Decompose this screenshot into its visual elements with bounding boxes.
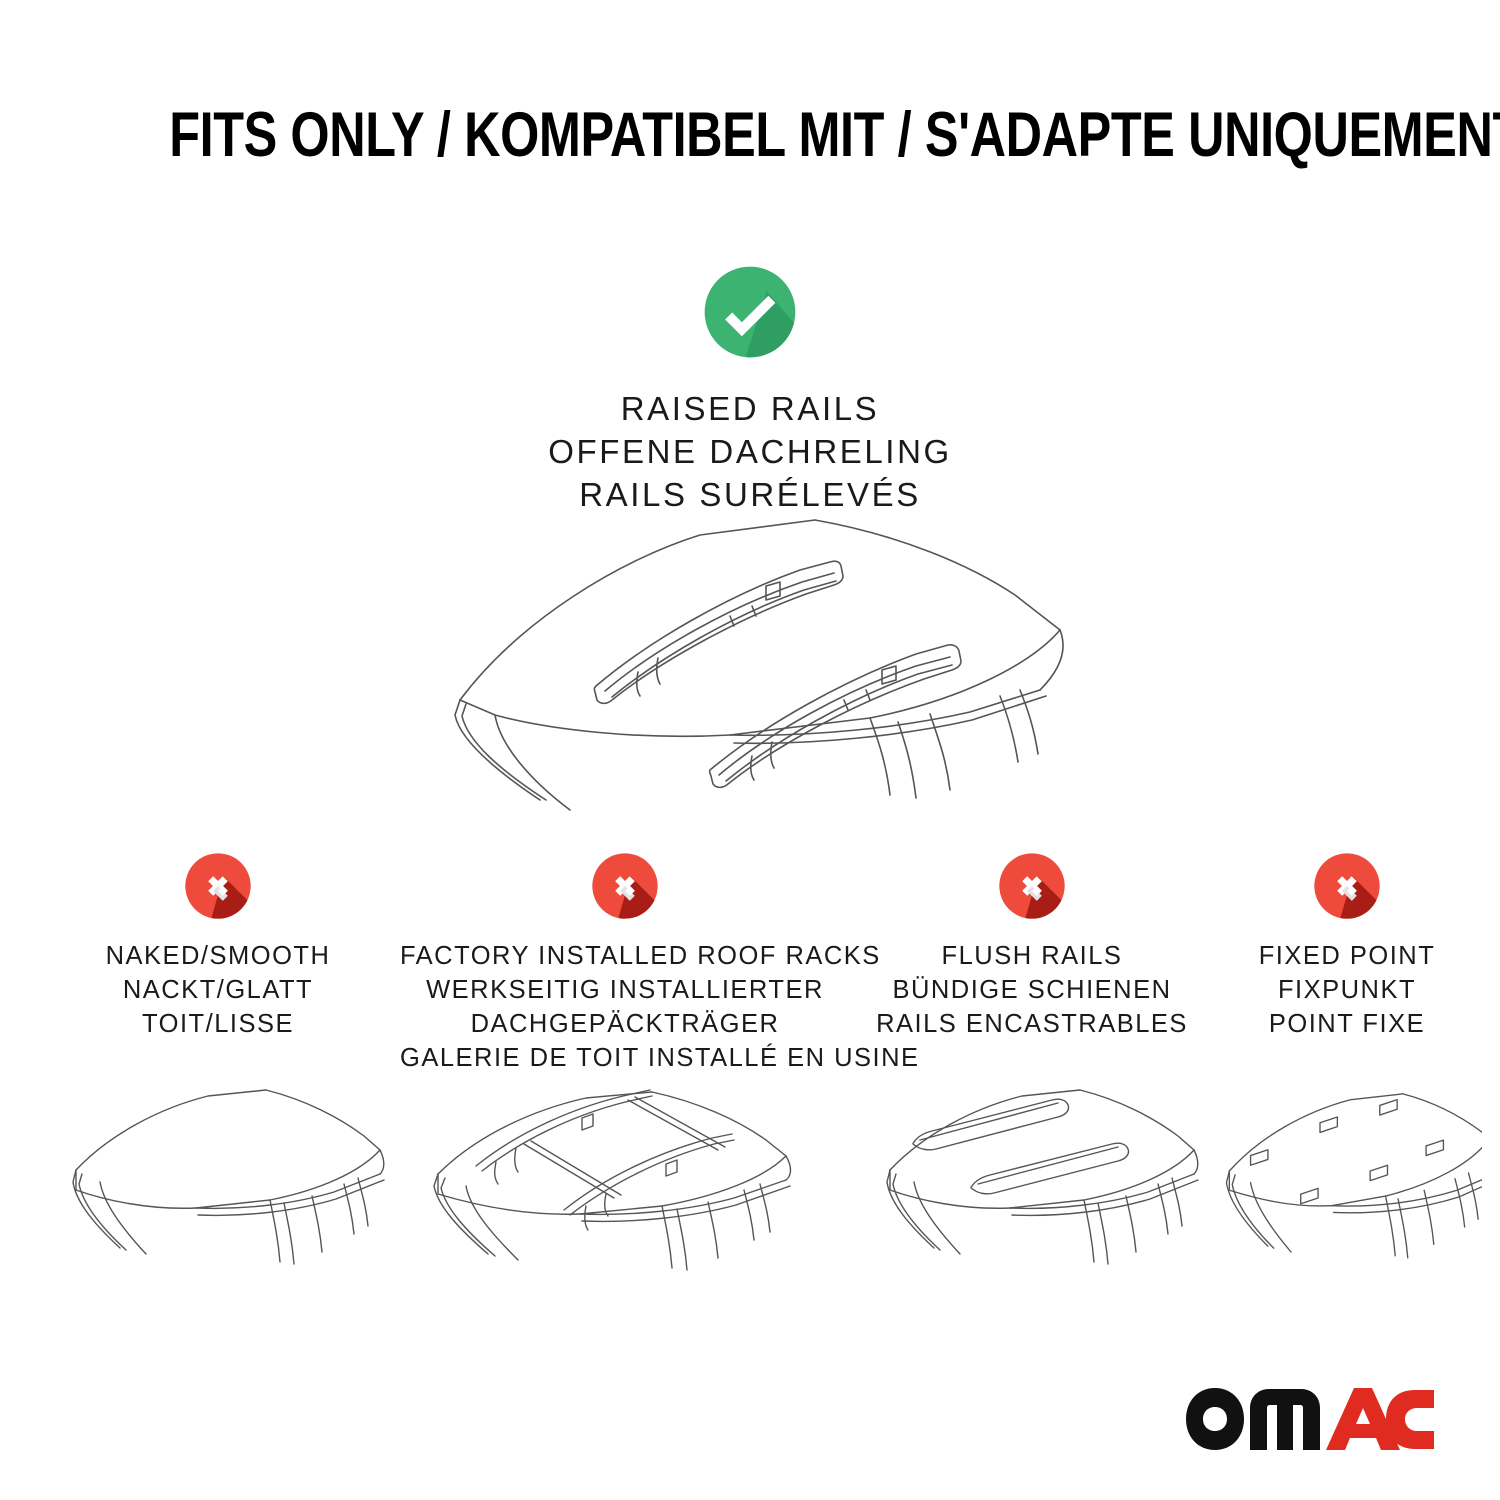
incompatible-item-factory-racks: FACTORY INSTALLED ROOF RACKS WERKSEITIG …	[400, 848, 850, 1323]
cross-circle-icon	[1309, 848, 1385, 924]
incompatible-3-line-1: FIXED POINT	[1212, 940, 1482, 974]
incompatible-item-flush-rails: FLUSH RAILS BÜNDIGE SCHIENEN RAILS ENCAS…	[862, 848, 1202, 1323]
omac-logo	[1184, 1386, 1436, 1452]
car-roof-flush-rails-illustration	[862, 1078, 1202, 1318]
page-title-text: FITS ONLY / KOMPATIBEL MIT / S'ADAPTE UN…	[169, 104, 1500, 167]
cross-circle-icon	[587, 848, 663, 924]
car-roof-factory-roof-racks-illustration	[400, 1078, 850, 1318]
cross-circle-icon	[180, 848, 256, 924]
incompatible-2-line-2: BÜNDIGE SCHIENEN	[862, 974, 1202, 1008]
incompatible-0-line-2: NACKT/GLATT	[48, 974, 388, 1008]
incompatible-caption: NAKED/SMOOTH NACKT/GLATT TOIT/LISSE	[48, 940, 388, 1042]
incompatible-3-line-2: FIXPUNKT	[1212, 974, 1482, 1008]
incompatible-1-line-3: DACHGEPÄCKTRÄGER	[400, 1008, 850, 1042]
compatible-line-1: RAISED RAILS	[0, 388, 1500, 431]
incompatible-3-line-3: POINT FIXE	[1212, 1008, 1482, 1042]
compatible-section: RAISED RAILS OFFENE DACHRELING RAILS SUR…	[0, 258, 1500, 517]
incompatible-1-line-2: WERKSEITIG INSTALLIERTER	[400, 974, 850, 1008]
incompatible-item-naked-smooth: NAKED/SMOOTH NACKT/GLATT TOIT/LISSE	[48, 848, 388, 1323]
incompatible-caption: FIXED POINT FIXPUNKT POINT FIXE	[1212, 940, 1482, 1042]
car-roof-fixed-point-illustration	[1212, 1078, 1482, 1318]
car-roof-raised-rails-illustration	[400, 500, 1100, 830]
compatible-illustration-wrap	[0, 500, 1500, 835]
incompatible-1-line-1: FACTORY INSTALLED ROOF RACKS	[400, 940, 850, 974]
incompatible-item-fixed-point: FIXED POINT FIXPUNKT POINT FIXE	[1212, 848, 1482, 1323]
cross-circle-icon	[994, 848, 1070, 924]
check-circle-icon	[696, 258, 804, 366]
incompatible-2-line-1: FLUSH RAILS	[862, 940, 1202, 974]
compatible-caption: RAISED RAILS OFFENE DACHRELING RAILS SUR…	[0, 388, 1500, 517]
page-title: FITS ONLY / KOMPATIBEL MIT / S'ADAPTE UN…	[0, 104, 1500, 167]
incompatible-section: NAKED/SMOOTH NACKT/GLATT TOIT/LISSE	[0, 848, 1500, 1318]
incompatible-0-line-1: NAKED/SMOOTH	[48, 940, 388, 974]
compatible-line-2: OFFENE DACHRELING	[0, 431, 1500, 474]
car-roof-naked-smooth-illustration	[48, 1078, 388, 1318]
incompatible-caption: FACTORY INSTALLED ROOF RACKS WERKSEITIG …	[400, 940, 850, 1076]
incompatible-0-line-3: TOIT/LISSE	[48, 1008, 388, 1042]
incompatible-caption: FLUSH RAILS BÜNDIGE SCHIENEN RAILS ENCAS…	[862, 940, 1202, 1042]
incompatible-1-line-4: GALERIE DE TOIT INSTALLÉ EN USINE	[400, 1042, 850, 1076]
incompatible-2-line-3: RAILS ENCASTRABLES	[862, 1008, 1202, 1042]
